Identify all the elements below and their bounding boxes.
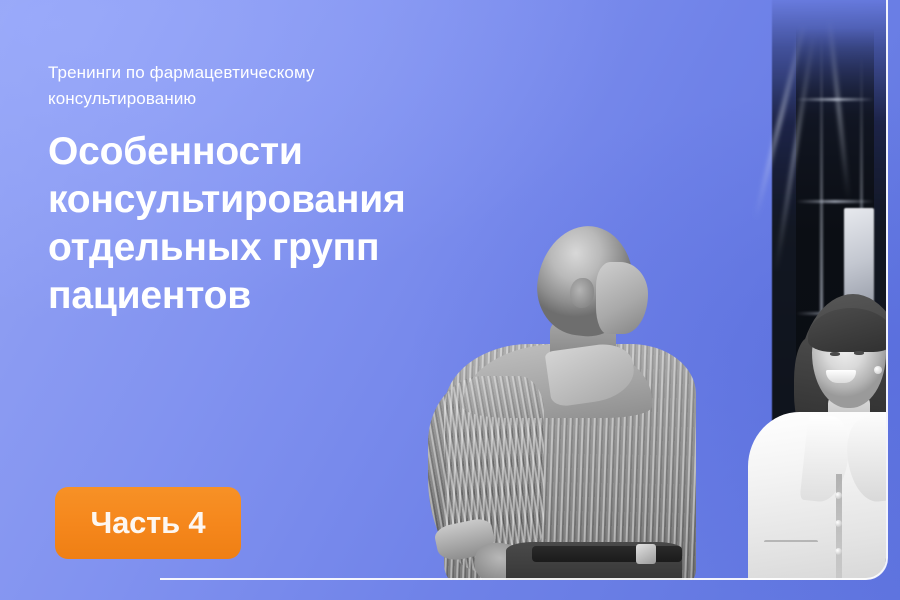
pharmacist-earring (874, 366, 882, 374)
male-ear (570, 278, 594, 308)
pharmacist-coat-button (835, 520, 842, 527)
figure-male-customer (410, 226, 740, 580)
pharmacist-coat-pocket (764, 540, 818, 580)
figure-pharmacist (746, 294, 886, 580)
pharmacist-coat-placket (836, 474, 842, 580)
pharmacist-coat-button (835, 492, 842, 499)
part-badge: Часть 4 (55, 487, 241, 559)
slide-eyebrow: Тренинги по фармацевтическому консультир… (48, 60, 408, 112)
presentation-slide: Тренинги по фармацевтическому консультир… (0, 0, 900, 600)
pharmacist-eye (854, 351, 864, 355)
male-face (596, 262, 648, 334)
pharmacist-eye (830, 352, 840, 356)
male-belt-buckle (636, 544, 656, 564)
slide-headline: Особенности консультирования отдельных г… (48, 128, 448, 320)
pharmacist-coat-button (835, 548, 842, 555)
shelf-product-box (844, 208, 874, 304)
male-belt (532, 546, 682, 562)
part-badge-label: Часть 4 (91, 505, 206, 541)
